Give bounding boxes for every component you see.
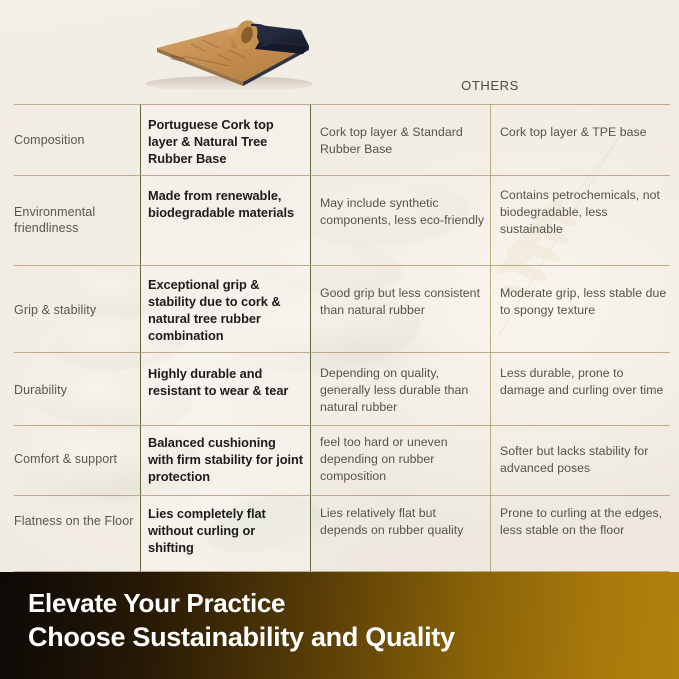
other1-cell: feel too hard or uneven depending on rub… (320, 434, 485, 485)
banner-headline-line2: Choose Sustainability and Quality (28, 620, 648, 654)
other1-cell: Good grip but less consistent than natur… (320, 285, 485, 319)
row-separator (14, 265, 670, 266)
row-separator (14, 352, 670, 353)
comparison-table: Composition Portuguese Cork top layer & … (0, 104, 679, 572)
hero-cell: Highly durable and resistant to wear & t… (148, 365, 303, 399)
comparison-infographic: OTHERS Composition Portuguese Cork top l… (0, 0, 679, 679)
hero-cell: Portuguese Cork top layer & Natural Tree… (148, 116, 303, 167)
hero-cell: Exceptional grip & stability due to cork… (148, 276, 303, 344)
hero-cell: Lies completely flat without curling or … (148, 505, 303, 556)
hero-cell: Balanced cushioning with firm stability … (148, 434, 303, 485)
row-label: Flatness on the Floor (14, 513, 136, 529)
other2-cell: Softer but lacks stability for advanced … (500, 443, 668, 477)
others-column-header: OTHERS (430, 78, 550, 93)
row-separator (14, 495, 670, 496)
other1-cell: Lies relatively flat but depends on rubb… (320, 505, 485, 539)
row-label: Grip & stability (14, 302, 136, 318)
other2-cell: Contains petrochemicals, not biodegradab… (500, 187, 668, 238)
row-label: Durability (14, 382, 136, 398)
bottom-cta-banner: Elevate Your Practice Choose Sustainabil… (0, 572, 679, 679)
banner-text-block: Elevate Your Practice Choose Sustainabil… (28, 586, 648, 654)
other2-cell: Less durable, prone to damage and curlin… (500, 365, 668, 399)
row-label: Environmental friendliness (14, 204, 136, 236)
hero-cell: Made from renewable, biodegradable mater… (148, 187, 303, 221)
other1-cell: Cork top layer & Standard Rubber Base (320, 124, 485, 158)
row-label: Comfort & support (14, 451, 136, 467)
row-separator (14, 104, 670, 105)
row-separator (14, 425, 670, 426)
other1-cell: Depending on quality, generally less dur… (320, 365, 485, 416)
other1-cell: May include synthetic components, less e… (320, 195, 485, 229)
row-separator (14, 175, 670, 176)
other2-cell: Prone to curling at the edges, less stab… (500, 505, 668, 539)
product-image-yoga-mat (133, 4, 321, 90)
other2-cell: Moderate grip, less stable due to spongy… (500, 285, 668, 319)
banner-headline-line1: Elevate Your Practice (28, 586, 648, 620)
other2-cell: Cork top layer & TPE base (500, 124, 668, 141)
row-label: Composition (14, 132, 136, 148)
